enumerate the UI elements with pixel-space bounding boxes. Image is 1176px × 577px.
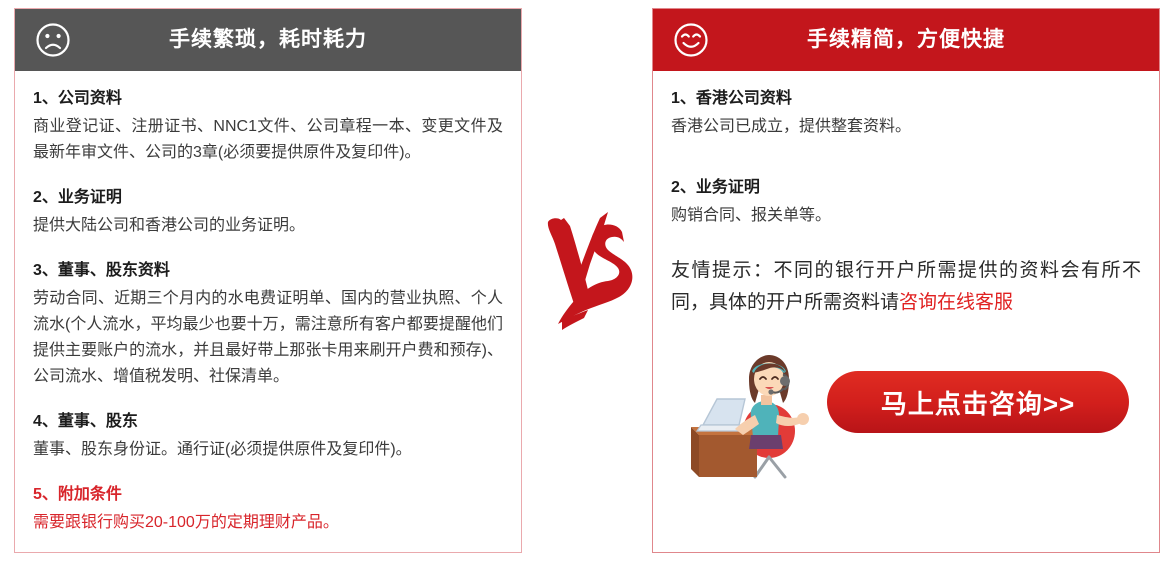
sad-face-icon [35,22,71,58]
right-section-1-body: 香港公司已成立，提供整套资料。 [671,114,1141,140]
customer-service-agent-illustration [677,343,827,483]
left-section-2-body: 提供大陆公司和香港公司的业务证明。 [33,213,503,239]
online-support-link[interactable]: 咨询在线客服 [899,292,1013,313]
left-panel-header: 手续繁琐，耗时耗力 [15,9,521,71]
left-section-5-title: 5、附加条件 [33,483,503,507]
left-section-2: 2、业务证明 提供大陆公司和香港公司的业务证明。 [33,186,503,239]
left-section-1: 1、公司资料 商业登记证、注册证书、NNC1文件、公司章程一本、变更文件及最新年… [33,87,503,166]
happy-face-icon [673,22,709,58]
left-section-5-body: 需要跟银行购买20-100万的定期理财产品。 [33,510,503,536]
right-section-2-title: 2、业务证明 [671,176,1141,200]
comparison-infographic: 手续繁琐，耗时耗力 1、公司资料 商业登记证、注册证书、NNC1文件、公司章程一… [0,0,1176,577]
consult-now-button[interactable]: 马上点击咨询>> [827,371,1129,433]
left-section-3-title: 3、董事、股东资料 [33,259,503,283]
left-section-2-title: 2、业务证明 [33,186,503,210]
left-section-5: 5、附加条件 需要跟银行购买20-100万的定期理财产品。 [33,483,503,536]
left-panel-body: 1、公司资料 商业登记证、注册证书、NNC1文件、公司章程一本、变更文件及最新年… [15,71,521,546]
right-panel-header: 手续精简，方便快捷 [653,9,1159,71]
left-section-4: 4、董事、股东 董事、股东身份证。通行证(必须提供原件及复印件)。 [33,410,503,463]
left-section-3-body: 劳动合同、近期三个月内的水电费证明单、国内的营业执照、个人流水(个人流水，平均最… [33,286,503,390]
left-panel-drawbacks: 手续繁琐，耗时耗力 1、公司资料 商业登记证、注册证书、NNC1文件、公司章程一… [14,8,522,553]
left-section-1-body: 商业登记证、注册证书、NNC1文件、公司章程一本、变更文件及最新年审文件、公司的… [33,114,503,166]
right-panel-title: 手续精简，方便快捷 [653,9,1159,71]
left-panel-title: 手续繁琐，耗时耗力 [15,9,521,71]
right-section-2: 2、业务证明 购销合同、报关单等。 [671,176,1141,229]
right-section-1-title: 1、香港公司资料 [671,87,1141,111]
right-section-1: 1、香港公司资料 香港公司已成立，提供整套资料。 [671,87,1141,140]
left-section-3: 3、董事、股东资料 劳动合同、近期三个月内的水电费证明单、国内的营业执照、个人流… [33,259,503,390]
right-panel-benefits: 手续精简，方便快捷 1、香港公司资料 香港公司已成立，提供整套资料。 2、业务证… [652,8,1160,553]
vs-brush-mark-icon [540,198,640,348]
cta-zone: 马上点击咨询>> [671,341,1141,491]
right-section-2-body: 购销合同、报关单等。 [671,203,1141,229]
left-section-4-body: 董事、股东身份证。通行证(必须提供原件及复印件)。 [33,437,503,463]
left-section-4-title: 4、董事、股东 [33,410,503,434]
right-panel-body: 1、香港公司资料 香港公司已成立，提供整套资料。 2、业务证明 购销合同、报关单… [653,71,1159,501]
left-section-1-title: 1、公司资料 [33,87,503,111]
friendly-notice: 友情提示：不同的银行开户所需提供的资料会有所不同，具体的开户所需资料请咨询在线客… [671,255,1141,319]
